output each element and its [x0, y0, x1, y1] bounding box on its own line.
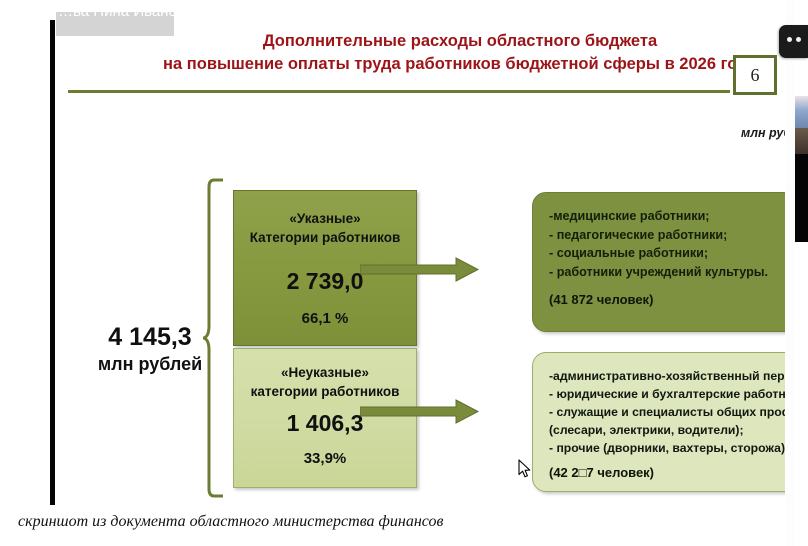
participant-nameplate: …ва Нина Ивановна — [56, 12, 174, 36]
category-heading-line-2: Категории работников — [234, 228, 416, 247]
total-amount: 4 145,3 млн рублей — [85, 322, 215, 376]
arrow-to-detail-2 — [360, 398, 480, 433]
category-heading: «Неуказные» категории работников — [234, 349, 416, 401]
list-item: - юридические и бухгалтерские работники; — [549, 385, 785, 403]
detail-list: -административно-хозяйственный персонал;… — [549, 367, 785, 457]
list-item: - работники учреждений культуры. — [549, 263, 785, 282]
list-item: - прочие (дворники, вахтеры, сторожа). — [549, 439, 785, 457]
page-caption: скриншот из документа областного министе… — [18, 513, 443, 531]
more-options-icon — [787, 37, 792, 42]
detail-list: -медицинские работники; - педагогические… — [549, 207, 785, 281]
category-heading: «Указные» Категории работников — [234, 191, 416, 247]
title-underline — [68, 90, 730, 93]
headcount: (42 2□7 человек) — [549, 465, 785, 480]
total-value: 4 145,3 — [85, 322, 215, 352]
screen-share-stage: Дополнительные расходы областного бюджет… — [0, 0, 808, 546]
list-item: -медицинские работники; — [549, 207, 785, 226]
headcount: (41 872 человек) — [549, 292, 785, 307]
pip-video-strip-2[interactable] — [795, 128, 808, 154]
right-gutter — [786, 0, 795, 546]
title-line-1: Дополнительные расходы областного бюджет… — [115, 30, 785, 53]
list-item: - социальные работники; — [549, 244, 785, 263]
arrow-to-detail-1 — [360, 256, 480, 291]
category-heading-line-1: «Неуказные» — [281, 365, 369, 380]
list-item: - педагогические работники; — [549, 226, 785, 245]
category-percent: 66,1 % — [234, 295, 416, 329]
title-line-2: на повышение оплаты труда работников бюд… — [115, 53, 785, 76]
participant-name: …ва Нина Ивановна — [58, 12, 174, 20]
slide-canvas: Дополнительные расходы областного бюджет… — [55, 0, 785, 505]
grouping-brace — [203, 178, 225, 498]
pip-more-options-button[interactable] — [779, 25, 808, 58]
list-item: -административно-хозяйственный персонал; — [549, 367, 785, 385]
list-item: (слесари, электрики, водители); — [549, 421, 785, 439]
pip-video-strip-3[interactable] — [795, 154, 808, 242]
pip-video-strip-1[interactable] — [795, 96, 808, 128]
page-number-badge: 6 — [733, 55, 777, 95]
total-unit: млн рублей — [85, 352, 215, 376]
slide-title: Дополнительные расходы областного бюджет… — [115, 30, 785, 76]
detail-panel-neukaznye: -административно-хозяйственный персонал;… — [532, 352, 785, 492]
more-options-icon-dot — [796, 37, 801, 42]
detail-panel-ukaznye: -медицинские работники; - педагогические… — [532, 192, 785, 332]
list-item: - служащие и специалисты общих профессий — [549, 403, 785, 421]
units-label: млн рублей — [741, 126, 785, 140]
category-percent: 33,9% — [234, 437, 416, 469]
category-heading-line-1: «Указные» — [289, 211, 360, 226]
